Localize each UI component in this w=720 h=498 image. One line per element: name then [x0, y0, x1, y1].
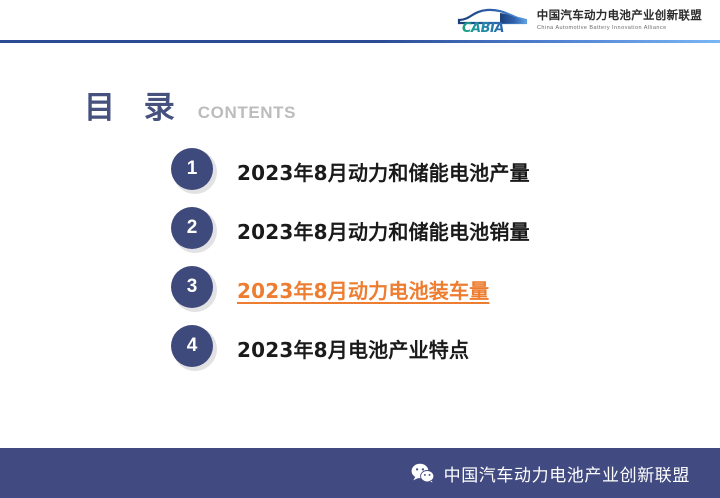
table-of-contents: 1 2023年8月动力和储能电池产量 2 2023年8月动力和储能电池销量 3 … [171, 148, 530, 384]
header-divider [0, 40, 720, 43]
page-title-cn: 目 录 [84, 82, 184, 127]
toc-item-4[interactable]: 4 2023年8月电池产业特点 [171, 325, 530, 371]
brand-text-block: 中国汽车动力电池产业创新联盟 China Automotive Battery … [537, 11, 702, 31]
badge-number: 1 [171, 148, 213, 190]
badge-number: 2 [171, 207, 213, 249]
cabia-logo-icon: CABIA [456, 7, 528, 35]
wechat-icon [411, 463, 435, 484]
toc-item-label[interactable]: 2023年8月动力电池装车量 [237, 275, 489, 304]
badge-number: 3 [171, 266, 213, 308]
brand-logo: CABIA 中国汽车动力电池产业创新联盟 China Automotive Ba… [456, 7, 702, 35]
toc-item-label[interactable]: 2023年8月动力和储能电池销量 [237, 216, 530, 245]
toc-item-1[interactable]: 1 2023年8月动力和储能电池产量 [171, 148, 530, 194]
brand-name-cn: 中国汽车动力电池产业创新联盟 [537, 11, 702, 23]
badge-number: 4 [171, 325, 213, 367]
toc-number-badge: 2 [171, 207, 217, 253]
toc-item-label[interactable]: 2023年8月电池产业特点 [237, 334, 469, 363]
toc-number-badge: 3 [171, 266, 217, 312]
toc-number-badge: 4 [171, 325, 217, 371]
slide-header: CABIA 中国汽车动力电池产业创新联盟 China Automotive Ba… [0, 0, 720, 42]
toc-number-badge: 1 [171, 148, 217, 194]
toc-item-label[interactable]: 2023年8月动力和储能电池产量 [237, 157, 530, 186]
toc-item-3[interactable]: 3 2023年8月动力电池装车量 [171, 266, 530, 312]
svg-text:CABIA: CABIA [462, 21, 504, 35]
slide-footer: 中国汽车动力电池产业创新联盟 [0, 448, 720, 498]
brand-name-en: China Automotive Battery Innovation Alli… [537, 26, 706, 31]
footer-organization-name: 中国汽车动力电池产业创新联盟 [444, 461, 690, 486]
toc-item-2[interactable]: 2 2023年8月动力和储能电池销量 [171, 207, 530, 253]
page-title: 目 录 CONTENTS [84, 82, 296, 127]
page-title-en: CONTENTS [198, 103, 296, 123]
